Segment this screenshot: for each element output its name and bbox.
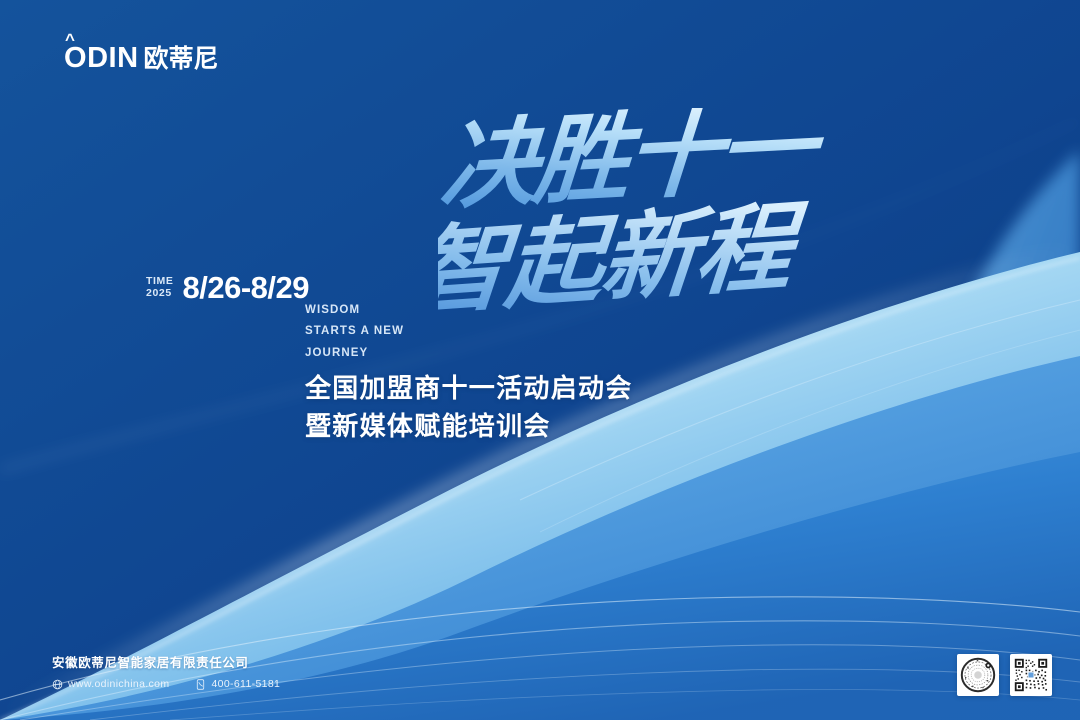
english-tagline: WISDOM STARTS A NEW JOURNEY <box>305 300 404 364</box>
tagline-line-1: WISDOM <box>305 300 404 321</box>
tagline-line-2: STARTS A NEW <box>305 321 404 342</box>
time-label-year: 2025 <box>146 288 173 300</box>
wechat-qr-graphic <box>1013 657 1049 693</box>
event-date-block: TIME 2025 8/26-8/29 <box>146 272 309 303</box>
headline-calligraphy: 决胜十一 智起新程 <box>438 108 908 344</box>
douyin-qr-graphic <box>960 657 996 693</box>
event-poster: ^ODIN 欧蒂尼 决胜十一 智起新程 <box>0 0 1080 720</box>
globe-icon <box>52 679 63 690</box>
phone-icon <box>195 679 206 690</box>
logo-latin-rest: DIN <box>87 42 138 74</box>
circumflex-accent-icon: ^ <box>65 35 80 44</box>
website-text[interactable]: www.odinichina.com <box>68 678 169 690</box>
tagline-line-3: JOURNEY <box>305 343 404 364</box>
douyin-qr-code[interactable] <box>957 654 999 696</box>
subtitle-line-1: 全国加盟商十一活动启动会 <box>305 370 633 408</box>
headline-svg: 决胜十一 智起新程 <box>438 108 908 344</box>
contact-row: www.odinichina.com 400-611-5181 <box>52 678 280 690</box>
brand-logo: ^ODIN 欧蒂尼 <box>64 44 219 73</box>
qr-code-group <box>957 654 1052 696</box>
logo-chinese-text: 欧蒂尼 <box>144 47 219 72</box>
date-range: 8/26-8/29 <box>182 272 309 303</box>
time-label: TIME 2025 <box>146 276 173 300</box>
time-label-top: TIME <box>146 276 173 288</box>
phone-text[interactable]: 400-611-5181 <box>211 678 280 690</box>
wechat-qr-code[interactable] <box>1010 654 1052 696</box>
phone-item: 400-611-5181 <box>195 678 280 690</box>
subtitle-line-2: 暨新媒体赋能培训会 <box>305 408 633 446</box>
logo-latin-text: ^ODIN <box>64 44 139 73</box>
website-item: www.odinichina.com <box>52 678 169 690</box>
event-subtitle: 全国加盟商十一活动启动会 暨新媒体赋能培训会 <box>305 370 633 445</box>
company-name: 安徽欧蒂尼智能家居有限责任公司 <box>52 652 280 671</box>
footer-info: 安徽欧蒂尼智能家居有限责任公司 www.odinichina.com 400-6… <box>52 652 280 690</box>
